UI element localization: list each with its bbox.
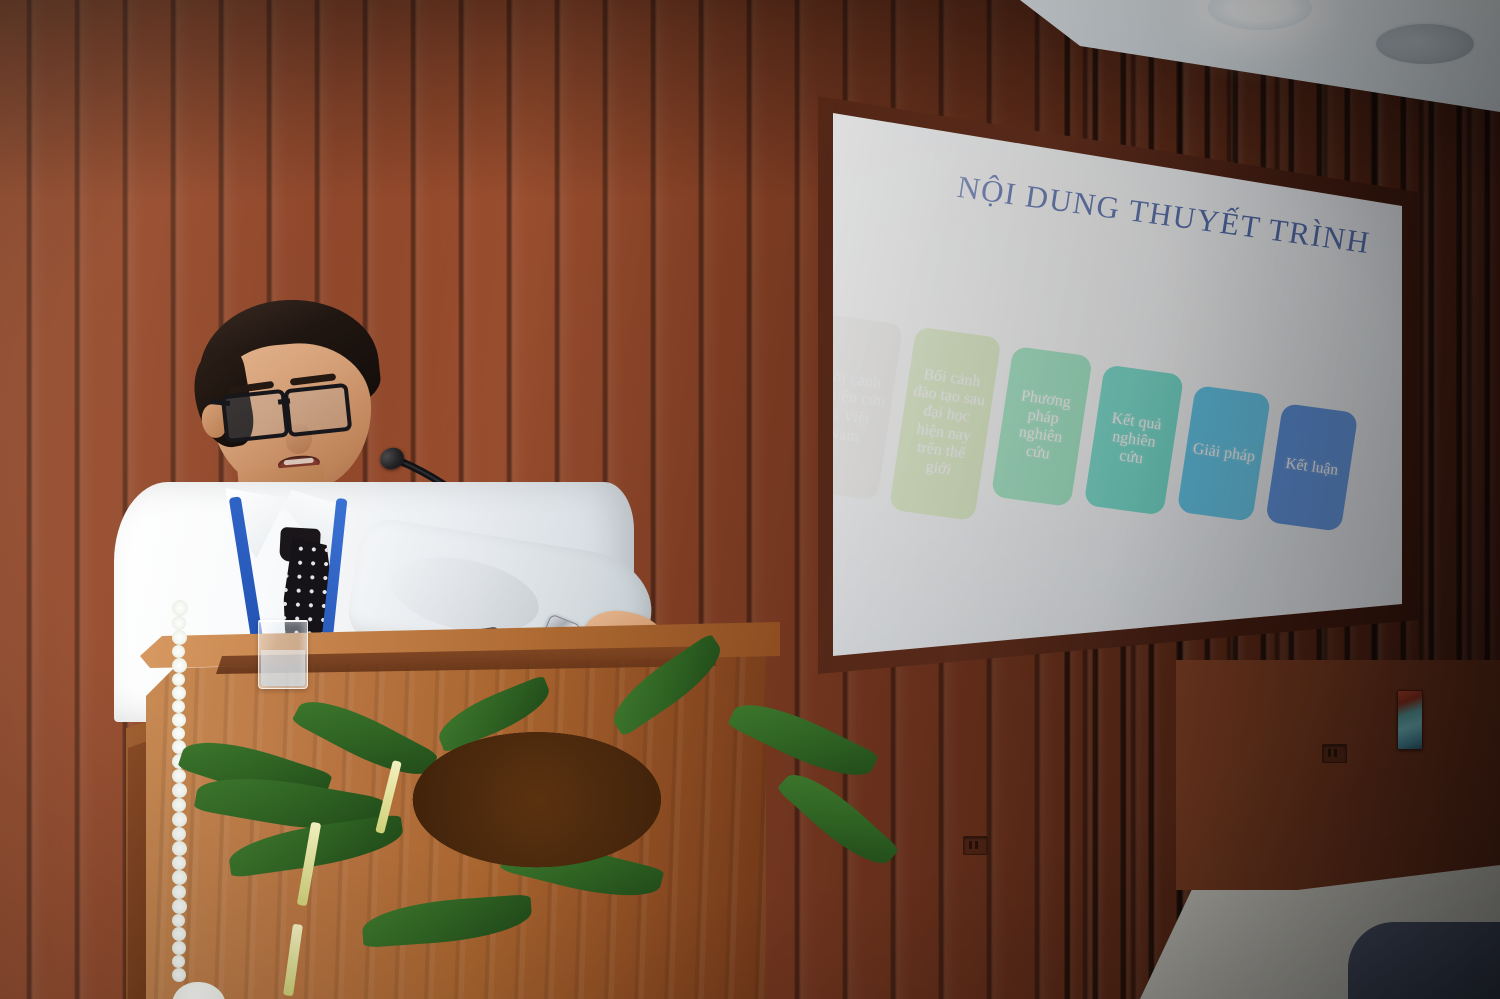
statice-flower (172, 600, 188, 616)
statice-flower (172, 812, 187, 827)
presentation-photograph: NỘI DUNG THUYẾT TRÌNH Bối cảnh nghiên cứ… (0, 0, 1500, 999)
statice-flower (172, 616, 186, 630)
statice-flower (172, 955, 185, 968)
carnation-flower (172, 982, 226, 999)
statice-flower (172, 841, 187, 856)
flower-arrangement (172, 600, 902, 999)
statice-flower (172, 673, 185, 686)
leaf (602, 633, 731, 737)
statice-flower (172, 658, 187, 673)
statice-flower (172, 941, 186, 955)
eyeglasses-lens-right (284, 383, 353, 437)
statice-flower (172, 727, 185, 740)
statice-flower (172, 798, 186, 812)
statice-flower (172, 927, 186, 941)
statice-flower (172, 769, 186, 783)
anthurium-spadix (283, 924, 303, 997)
statice-flower (172, 713, 186, 727)
statice-flower (172, 827, 186, 841)
statice-flower (172, 885, 186, 899)
statice-flower (172, 899, 187, 914)
statice-flower (172, 870, 187, 885)
statice-flower (172, 914, 185, 927)
statice-flower (172, 686, 186, 700)
eyeglasses-lens-left (221, 389, 290, 443)
leaf (361, 894, 534, 948)
statice-flower (172, 968, 186, 982)
statice-flower (172, 630, 187, 645)
statice-flower (172, 700, 185, 713)
statice-flower (172, 856, 186, 870)
statice-flower (172, 645, 185, 658)
office-chair (1348, 922, 1500, 999)
leaf (776, 761, 900, 878)
statice-flower (172, 783, 187, 798)
